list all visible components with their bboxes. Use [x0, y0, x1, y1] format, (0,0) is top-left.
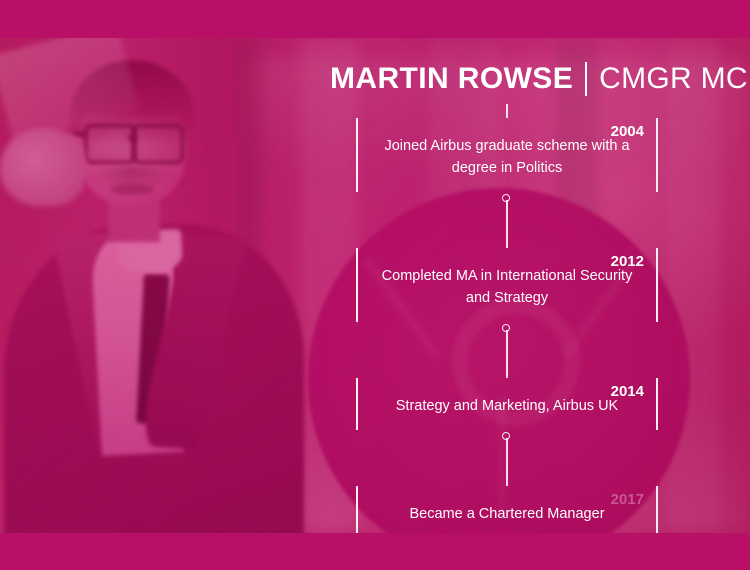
timeline-connector-line	[506, 330, 508, 378]
timeline-entry-box: 2014 Strategy and Marketing, Airbus UK	[356, 378, 658, 430]
timeline-entry-box: 2012 Completed MA in International Secur…	[356, 248, 658, 322]
timeline-entry: 2014 Strategy and Marketing, Airbus UK	[356, 378, 658, 430]
entry-description: Completed MA in International Security a…	[368, 265, 646, 309]
entry-bracket-right	[656, 118, 658, 192]
entry-description: Strategy and Marketing, Airbus UK	[368, 395, 646, 417]
career-timeline: 2004 Joined Airbus graduate scheme with …	[356, 118, 658, 542]
brand-band-bottom	[0, 533, 750, 570]
timeline-connector	[356, 322, 658, 378]
slide-canvas: MARTIN ROWSE CMGR MCMI 2004 Joined Airbu…	[0, 0, 750, 570]
entry-description: Joined Airbus graduate scheme with a deg…	[368, 135, 646, 179]
slide-content: MARTIN ROWSE CMGR MCMI 2004 Joined Airbu…	[0, 0, 750, 570]
slide-title: MARTIN ROWSE CMGR MCMI	[330, 62, 730, 96]
entry-bracket-right	[656, 378, 658, 430]
entry-bracket-right	[656, 248, 658, 322]
timeline-connector-line	[506, 438, 508, 486]
person-name: MARTIN ROWSE	[330, 62, 573, 96]
timeline-connector	[356, 192, 658, 248]
timeline-connector	[356, 430, 658, 486]
timeline-entry: 2012 Completed MA in International Secur…	[356, 248, 658, 322]
timeline-entry: 2004 Joined Airbus graduate scheme with …	[356, 118, 658, 192]
entry-bracket-left	[356, 118, 358, 192]
title-divider	[585, 62, 587, 96]
timeline-top-stub	[506, 104, 508, 118]
entry-bracket-left	[356, 248, 358, 322]
timeline-entry-box: 2004 Joined Airbus graduate scheme with …	[356, 118, 658, 192]
person-credentials: CMGR MCMI	[599, 62, 750, 96]
timeline-connector-line	[506, 200, 508, 248]
entry-year: 2017	[368, 492, 646, 507]
brand-band-top	[0, 0, 750, 38]
entry-bracket-left	[356, 378, 358, 430]
